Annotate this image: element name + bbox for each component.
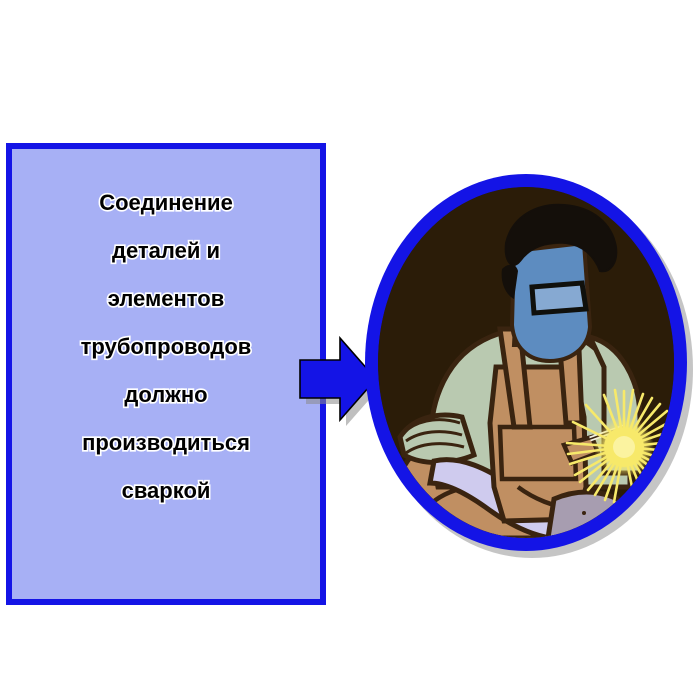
spark-hotspot (613, 436, 635, 458)
helmet-lens (532, 283, 586, 313)
welder-artwork (378, 187, 674, 538)
workpiece-speck-3 (610, 507, 614, 511)
text-callout-box[interactable] (6, 143, 326, 605)
welder-oval-frame[interactable] (365, 174, 687, 551)
slide-canvas: Соединение деталей и элементов трубопров… (0, 0, 700, 700)
workpiece-speck-1 (582, 511, 586, 515)
welder-illustration (378, 187, 674, 538)
workpiece-speck-2 (596, 521, 600, 525)
